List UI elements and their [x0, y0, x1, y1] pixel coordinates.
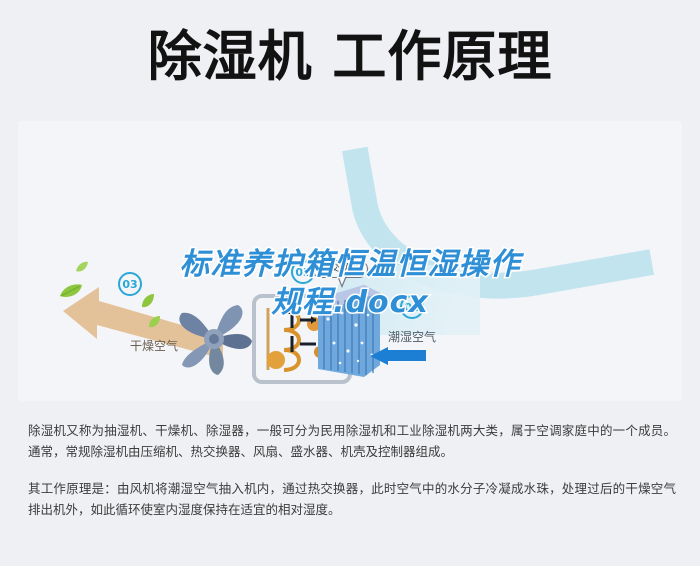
callout-pointer-icon	[337, 276, 347, 288]
label-humid-air: 潮湿空气	[388, 328, 436, 345]
label-dry-air: 干燥空气	[130, 337, 178, 354]
leaf-icon	[58, 283, 84, 304]
diagram-badge-03: 03	[118, 272, 142, 296]
page-root: 除湿机 工作原理	[0, 0, 700, 566]
step-list: 02 空气经过蒸发器冷凝成水珠 03 从上部出风口吹出清新干爽空气	[395, 403, 695, 405]
dehumidifier-diagram: 热交换器 01 02 03 潮湿空气 干燥空气 水箱 02 空气经过蒸发器冷凝成…	[0, 115, 700, 405]
step-label: 空气经过蒸发器冷凝成水珠	[418, 403, 598, 405]
leaf-icon	[75, 260, 89, 278]
fan-icon	[168, 293, 260, 385]
diagram-badge-01: 01	[400, 295, 424, 319]
page-title-wrap: 除湿机 工作原理	[0, 30, 700, 84]
air-inlet-arrow-icon	[370, 347, 426, 365]
leaf-icon	[140, 293, 156, 314]
body-paragraph-1: 除湿机又称为抽湿机、干燥机、除湿器，一般可分为民用除湿机和工业除湿机两大类，属于…	[28, 420, 676, 462]
diagram-badge-02: 02	[291, 260, 315, 284]
page-title: 除湿机 工作原理	[148, 30, 553, 84]
leaf-icon	[148, 315, 162, 334]
article-body: 除湿机又称为抽湿机、干燥机、除湿器，一般可分为民用除湿机和工业除湿机两大类，属于…	[28, 420, 676, 520]
step-item: 02 空气经过蒸发器冷凝成水珠	[395, 403, 695, 405]
body-paragraph-2: 其工作原理是：由风机将潮湿空气抽入机内，通过热交换器，此时空气中的水分子冷凝成水…	[28, 478, 676, 520]
